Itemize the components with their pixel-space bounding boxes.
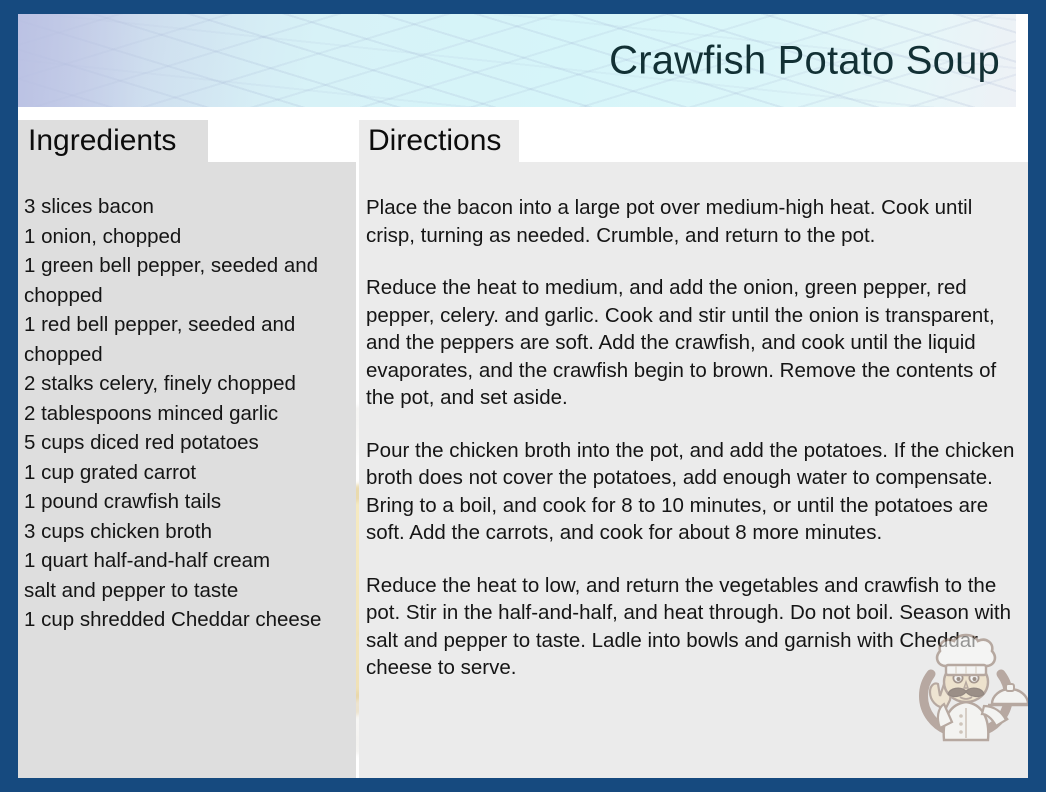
ingredients-list: 3 slices bacon 1 onion, chopped 1 green … bbox=[24, 192, 354, 635]
list-item: 2 stalks celery, finely chopped bbox=[24, 369, 354, 399]
list-item: 3 slices bacon bbox=[24, 192, 354, 222]
direction-step: Pour the chicken broth into the pot, and… bbox=[366, 437, 1026, 547]
direction-step: Reduce the heat to medium, and add the o… bbox=[366, 274, 1026, 412]
directions-heading: Directions bbox=[359, 120, 519, 162]
page-title: Crawfish Potato Soup bbox=[609, 38, 1000, 83]
directions-body: Place the bacon into a large pot over me… bbox=[366, 194, 1026, 682]
card-inner: Crawfish Potato Soup bbox=[18, 14, 1028, 778]
header-banner: Crawfish Potato Soup bbox=[18, 14, 1016, 107]
list-item: 1 cup shredded Cheddar cheese bbox=[24, 605, 354, 635]
list-item: salt and pepper to taste bbox=[24, 576, 354, 606]
list-item: 1 onion, chopped bbox=[24, 222, 354, 252]
list-item: 1 green bell pepper, seeded and chopped bbox=[24, 251, 354, 310]
list-item: 3 cups chicken broth bbox=[24, 517, 354, 547]
list-item: 1 cup grated carrot bbox=[24, 458, 354, 488]
recipe-card: Crawfish Potato Soup bbox=[0, 0, 1046, 792]
list-item: 1 pound crawfish tails bbox=[24, 487, 354, 517]
list-item: 1 red bell pepper, seeded and chopped bbox=[24, 310, 354, 369]
direction-step: Place the bacon into a large pot over me… bbox=[366, 194, 1026, 249]
direction-step: Reduce the heat to low, and return the v… bbox=[366, 572, 1026, 682]
list-item: 1 quart half-and-half cream bbox=[24, 546, 354, 576]
list-item: 5 cups diced red potatoes bbox=[24, 428, 354, 458]
list-item: 2 tablespoons minced garlic bbox=[24, 399, 354, 429]
banner-gradient-overlay bbox=[18, 14, 248, 107]
ingredients-heading: Ingredients bbox=[18, 120, 208, 162]
